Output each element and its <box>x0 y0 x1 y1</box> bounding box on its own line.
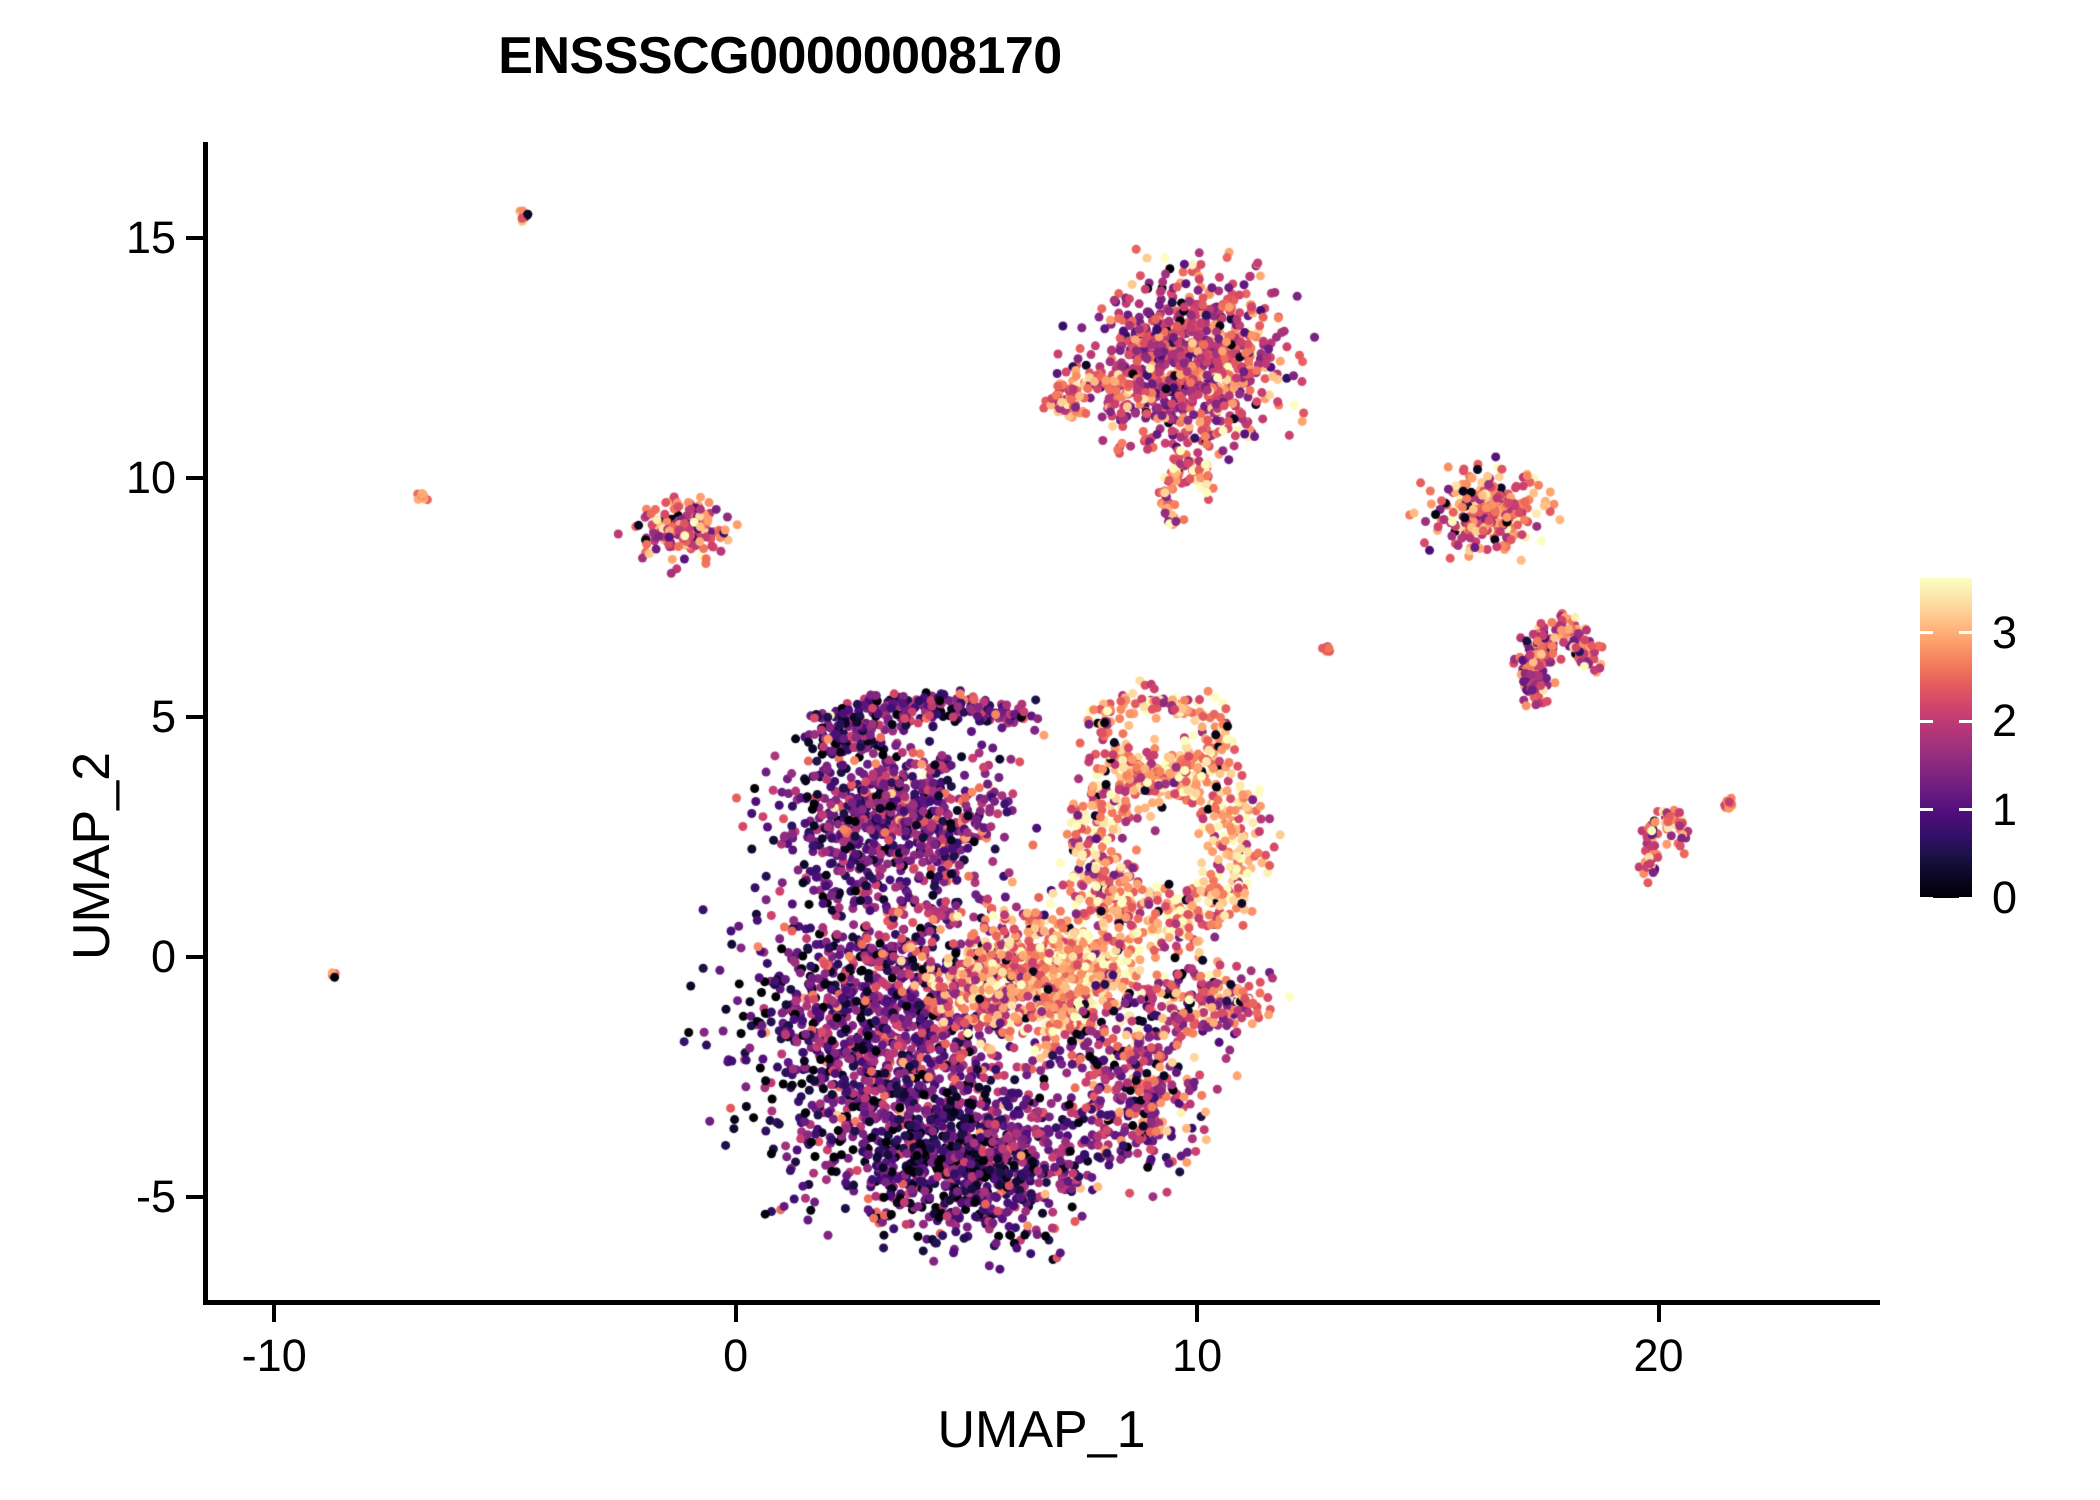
colorbar-tick-label: 3 <box>1992 607 2017 659</box>
x-tick-label: 0 <box>723 1330 748 1382</box>
y-tick-label: 0 <box>151 931 176 983</box>
x-tick-label: 20 <box>1633 1330 1683 1382</box>
colorbar-gradient <box>1920 578 1972 898</box>
y-tick-label: 10 <box>126 452 176 504</box>
colorbar <box>1920 578 1972 898</box>
colorbar-tick-mark <box>1920 720 1933 723</box>
y-tick-mark <box>186 476 203 480</box>
colorbar-tick-label: 1 <box>1992 784 2017 836</box>
x-axis-line <box>203 1300 1880 1305</box>
y-tick-label: -5 <box>136 1171 176 1223</box>
colorbar-tick-mark <box>1920 808 1933 811</box>
y-tick-label: 5 <box>151 691 176 743</box>
colorbar-tick-mark <box>1920 897 1933 900</box>
colorbar-tick-mark <box>1959 720 1972 723</box>
x-axis-title: UMAP_1 <box>203 1400 1880 1460</box>
x-tick-label: -10 <box>242 1330 307 1382</box>
y-tick-mark <box>186 236 203 240</box>
colorbar-tick-label: 2 <box>1992 695 2017 747</box>
y-tick-mark <box>186 715 203 719</box>
x-tick-mark <box>272 1305 276 1322</box>
y-axis-title: UMAP_2 <box>62 752 122 960</box>
y-tick-label: 15 <box>126 212 176 264</box>
page-title: ENSSSCG00000008170 <box>0 26 1560 86</box>
colorbar-tick-label: 0 <box>1992 872 2017 924</box>
y-tick-mark <box>186 955 203 959</box>
scatter-points-canvas <box>205 142 1880 1302</box>
x-tick-label: 10 <box>1172 1330 1222 1382</box>
umap-feature-plot: ENSSSCG00000008170 -1001020 -5051015 UMA… <box>0 0 2100 1500</box>
colorbar-tick-mark <box>1959 897 1972 900</box>
y-tick-mark <box>186 1195 203 1199</box>
plot-panel <box>205 142 1880 1302</box>
y-axis-line <box>203 142 208 1305</box>
colorbar-tick-mark <box>1959 808 1972 811</box>
x-tick-mark <box>1657 1305 1661 1322</box>
x-tick-mark <box>1195 1305 1199 1322</box>
colorbar-tick-mark <box>1920 631 1933 634</box>
x-tick-mark <box>734 1305 738 1322</box>
colorbar-tick-mark <box>1959 631 1972 634</box>
